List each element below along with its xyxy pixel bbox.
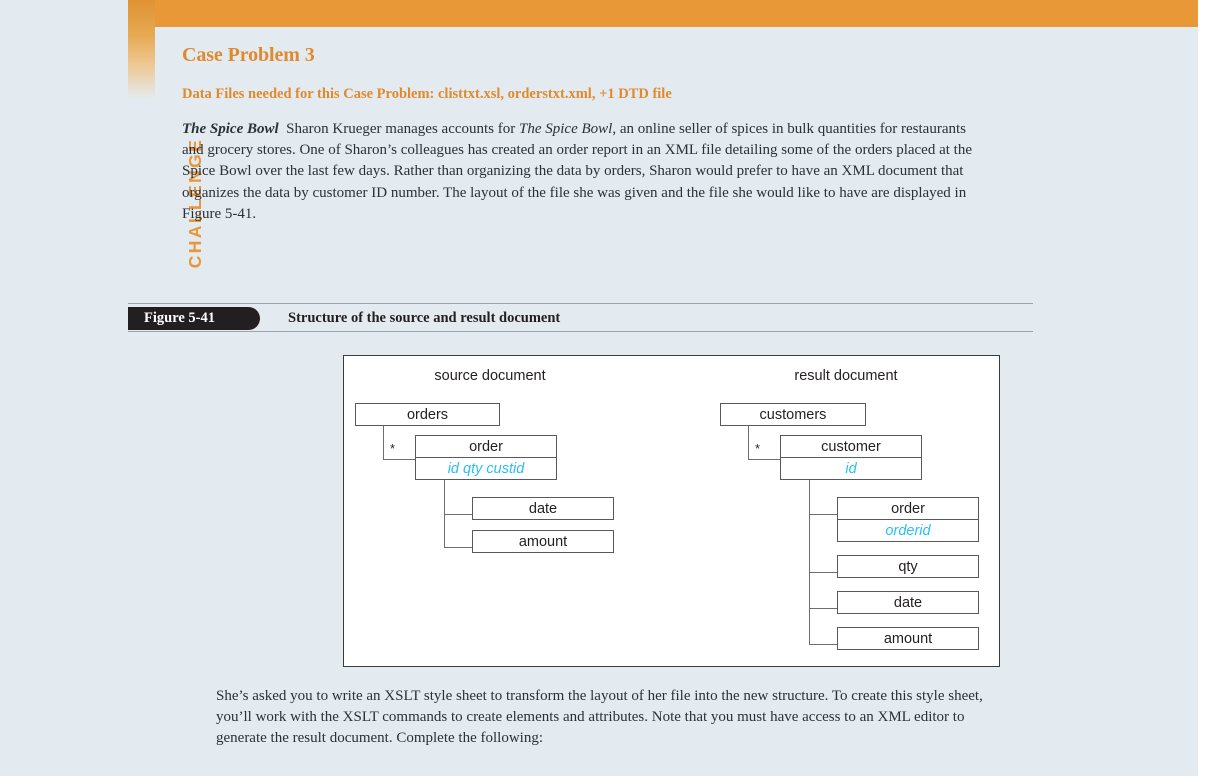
node-result-customers: customers <box>720 403 866 426</box>
header-orange-band <box>128 0 1198 27</box>
figure-top-rule <box>128 303 1033 304</box>
result-document-title: result document <box>721 368 971 384</box>
connector-customer-to-amount <box>809 480 839 645</box>
node-source-amount: amount <box>472 530 614 553</box>
figure-number: Figure 5-41 <box>144 310 215 327</box>
connector-orders-to-order <box>383 426 416 460</box>
connector-order-to-amount <box>444 480 474 548</box>
node-source-order: order <box>415 435 557 458</box>
source-multiplicity-star: * <box>390 441 395 456</box>
structure-diagram: source document orders * order id qty cu… <box>343 355 1000 667</box>
figure-number-tab: Figure 5-41 <box>128 307 260 330</box>
case-problem-body: The Spice Bowl Sharon Krueger manages ac… <box>182 119 987 225</box>
node-result-date: date <box>837 591 979 614</box>
source-document-title: source document <box>365 368 615 384</box>
node-result-customer-attributes: id <box>780 457 922 480</box>
case-body-part1: Sharon Krueger manages accounts for <box>286 121 519 137</box>
page-background: CHALLENGE Case Problem 3 Data Files need… <box>0 0 1198 776</box>
node-result-order: order <box>837 497 979 520</box>
node-result-customer: customer <box>780 435 922 458</box>
data-files-note: Data Files needed for this Case Problem:… <box>182 86 672 103</box>
node-result-qty: qty <box>837 555 979 578</box>
connector-customers-to-customer <box>748 426 781 460</box>
node-source-orders: orders <box>355 403 500 426</box>
case-lead-in: The Spice Bowl <box>182 121 279 137</box>
node-result-amount: amount <box>837 627 979 650</box>
node-source-order-attributes: id qty custid <box>415 457 557 480</box>
page-title: Case Problem 3 <box>182 44 315 67</box>
case-body-italic: The Spice Bowl <box>519 121 612 137</box>
figure-caption: Structure of the source and result docum… <box>288 310 560 327</box>
result-multiplicity-star: * <box>755 441 760 456</box>
figure-bottom-rule <box>128 331 1033 332</box>
challenge-label-wrap: CHALLENGE <box>122 60 154 230</box>
node-source-date: date <box>472 497 614 520</box>
closing-paragraph: She’s asked you to write an XSLT style s… <box>216 686 1006 750</box>
node-result-order-attributes: orderid <box>837 519 979 542</box>
